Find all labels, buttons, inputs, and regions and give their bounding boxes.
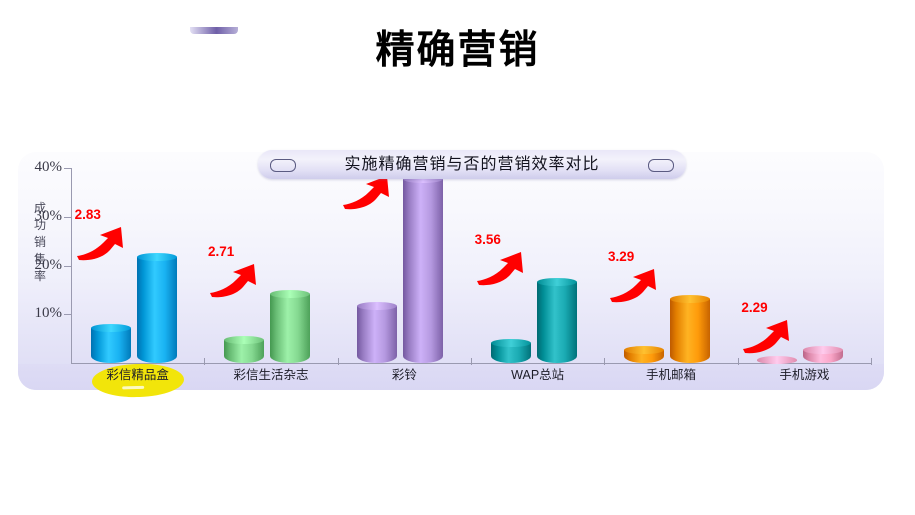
banner-tail [190,27,238,34]
bar-cap [624,346,664,354]
growth-value-label: 2.29 [741,300,767,315]
bar-cap [803,346,843,354]
bar-cap [91,324,131,332]
y-axis-tick-label: 20% [18,257,62,274]
category-label: 手机邮箱 [604,367,737,383]
y-axis-tick [64,266,72,267]
bar [803,346,843,363]
chart-area: 成功销售率 10%20%30%40% 2.832.712.953.563.292… [18,152,884,390]
category-label: 彩信精品盒 [71,367,204,383]
bar-cap [537,278,577,286]
bar-body [270,294,310,363]
category-separator-tick [471,358,472,365]
y-axis-tick [64,314,72,315]
category-label: 手机游戏 [738,367,871,383]
growth-arrow-icon [208,258,268,298]
bar [670,295,710,363]
growth-arrow-icon [741,314,801,354]
y-axis-tick-label: 10% [18,305,62,322]
chart-title: 实施精确营销与否的营销效率对比 [258,150,686,179]
growth-value-label: 2.71 [208,244,234,259]
growth-arrow-icon [475,246,535,286]
bar [491,339,531,363]
bar [537,278,577,363]
category-label: 彩铃 [338,367,471,383]
bar-cap [670,295,710,303]
bar [137,253,177,363]
bar-cap [491,339,531,347]
bar-cap [270,290,310,298]
category-separator-tick [871,358,872,365]
bar [357,302,397,363]
bar-body [91,328,131,363]
growth-arrow-icon [75,221,135,261]
y-axis-tick-label: 30% [18,208,62,225]
chart-title-banner: 实施精确营销与否的营销效率对比 [258,150,686,179]
bar-body [357,306,397,363]
growth-arrow-icon [608,263,668,303]
slide-title: 精确营销 [0,26,915,76]
bar [403,175,443,363]
bar [624,346,664,363]
y-axis-tick [64,168,72,169]
category-label: 彩信生活杂志 [204,367,337,383]
bar [91,324,131,363]
bar-body [537,282,577,363]
y-axis-tick-label: 40% [18,159,62,176]
bar [757,356,797,363]
growth-value-label: 3.56 [475,232,501,247]
y-axis-tick [64,217,72,218]
bar-body [137,257,177,363]
category-separator-tick [338,358,339,365]
bar-cap [757,356,797,364]
category-separator-tick [204,358,205,365]
category-separator-tick [738,358,739,365]
bar [270,290,310,363]
growth-value-label: 3.29 [608,249,634,264]
category-label: WAP总站 [471,367,604,383]
category-separator-tick [604,358,605,365]
growth-value-label: 2.83 [75,207,101,222]
bar-body [670,299,710,363]
bar [224,336,264,363]
bar-body [403,179,443,363]
